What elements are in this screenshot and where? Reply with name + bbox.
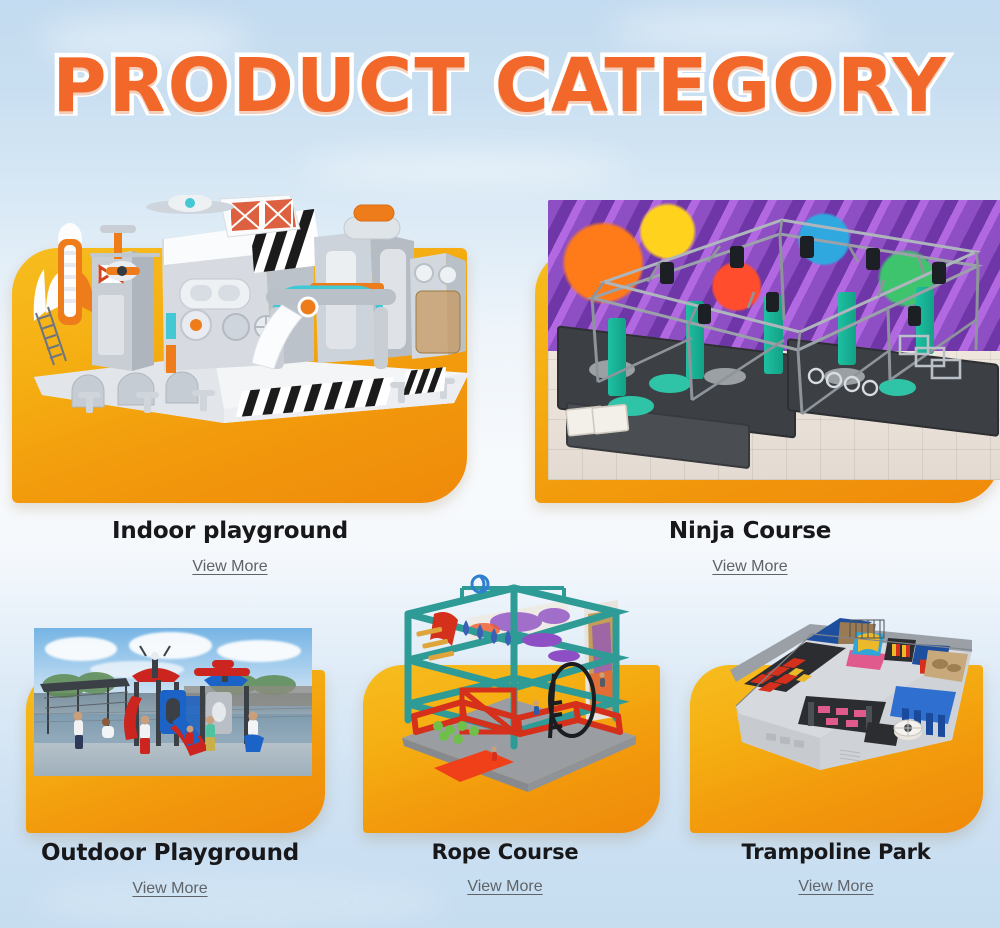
outdoor-playground-scene [34, 628, 312, 776]
outdoor-playground-artwork [34, 628, 312, 776]
product-category-page: PRODUCT CATEGORY [0, 0, 1000, 928]
ninja-course-artwork [548, 200, 1000, 480]
category-caption-indoor-playground: Indoor playground View More [30, 518, 430, 576]
cloud-decoration [300, 150, 630, 188]
category-title: Ninja Course [560, 518, 940, 544]
page-title-container: PRODUCT CATEGORY [0, 48, 1000, 126]
category-caption-rope-course: Rope Course View More [345, 840, 665, 896]
category-card-rope-course[interactable] [340, 570, 680, 840]
category-title: Outdoor Playground [0, 840, 340, 866]
view-more-link-indoor-playground[interactable]: View More [192, 558, 267, 576]
category-caption-outdoor-playground: Outdoor Playground View More [0, 840, 340, 898]
category-image-ninja-course [548, 200, 1000, 480]
category-card-trampoline-park[interactable] [670, 600, 1000, 840]
category-image-indoor-playground: 太空站 [14, 195, 482, 425]
category-title: Trampoline Park [676, 840, 996, 864]
indoor-playground-artwork: 太空站 [14, 195, 482, 425]
view-more-link-outdoor-playground[interactable]: View More [132, 880, 207, 898]
rope-course-artwork [368, 570, 658, 810]
ninja-steel-rig [548, 200, 1000, 480]
category-card-outdoor-playground[interactable] [0, 610, 340, 840]
category-image-trampoline-park [700, 610, 985, 785]
category-title: Indoor playground [30, 518, 430, 544]
category-caption-ninja-course: Ninja Course View More [560, 518, 940, 576]
category-image-rope-course [368, 570, 658, 810]
page-title: PRODUCT CATEGORY [52, 48, 947, 126]
category-caption-trampoline-park: Trampoline Park View More [676, 840, 996, 896]
category-title: Rope Course [345, 840, 665, 864]
trampoline-park-artwork [700, 610, 985, 785]
view-more-link-trampoline-park[interactable]: View More [798, 878, 873, 896]
category-image-outdoor-playground [34, 628, 312, 776]
view-more-link-rope-course[interactable]: View More [467, 878, 542, 896]
view-more-link-ninja-course[interactable]: View More [712, 558, 787, 576]
